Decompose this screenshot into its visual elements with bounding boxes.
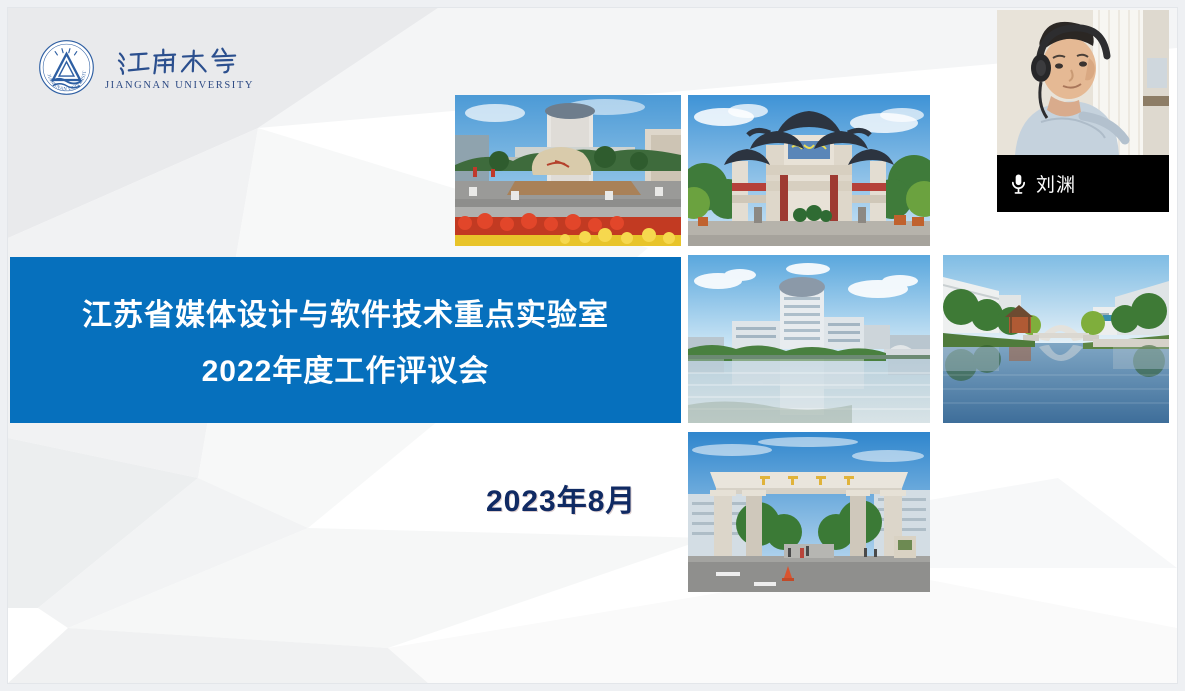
title-line-1: 江苏省媒体设计与软件技术重点实验室: [82, 290, 609, 334]
title-line-2: 2022年度工作评议会: [202, 346, 490, 390]
photo-lakeside-main-building: [688, 255, 930, 423]
participant-video-feed: [997, 10, 1169, 155]
jiangnan-university-seal-icon: JIANGNAN UNIVERSITY: [38, 39, 95, 96]
participant-nameplate: 刘渊: [997, 155, 1169, 212]
microphone-icon[interactable]: [1010, 173, 1027, 195]
participant-video-tile[interactable]: 刘渊: [997, 10, 1169, 212]
slide-date: 2023年8月: [486, 476, 636, 520]
photo-campus-plaza-monument: [455, 95, 681, 246]
university-name-cn-calligraphy: [116, 43, 244, 77]
photo-modern-stone-campus-gate: [688, 432, 930, 592]
screen-share-viewport: JIANGNAN UNIVERSITY: [0, 0, 1185, 691]
university-logo: JIANGNAN UNIVERSITY: [38, 39, 254, 96]
photo-traditional-archway-gate: [688, 95, 930, 246]
photo-canal-stone-arch-bridge: [943, 255, 1169, 423]
title-banner: 江苏省媒体设计与软件技术重点实验室 2022年度工作评议会: [10, 257, 681, 423]
university-name-en: JIANGNAN UNIVERSITY: [105, 81, 254, 92]
participant-name: 刘渊: [1036, 170, 1076, 197]
